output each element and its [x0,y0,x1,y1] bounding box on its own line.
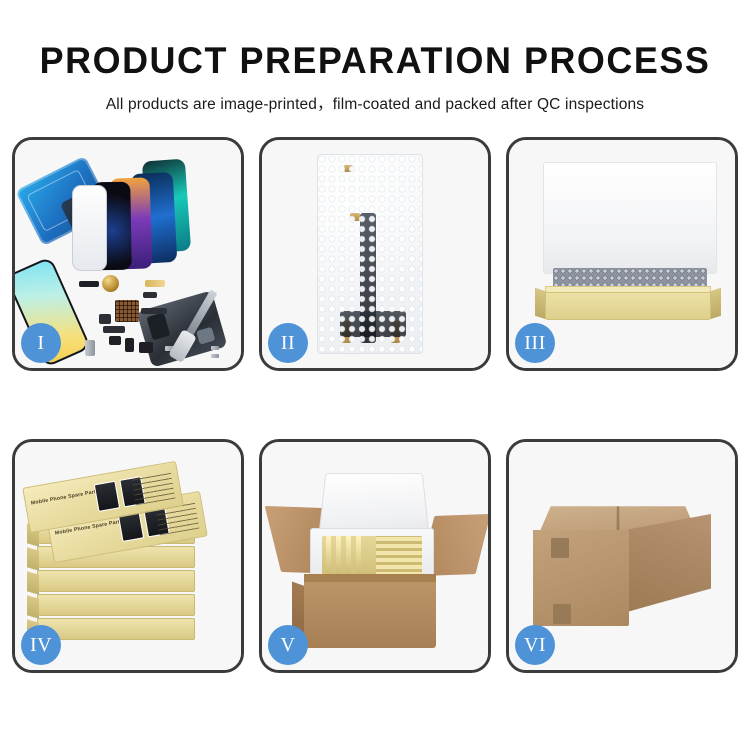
process-step-1: I [12,137,244,371]
carton-tape-icon-1 [551,538,569,558]
kraft-box-slab-icon-3 [37,570,195,592]
foam-lid-icon [543,162,717,274]
process-step-5: V [259,439,491,673]
receiver-icon [139,342,153,353]
flex-cable-icon-4 [141,308,167,314]
sealed-carton-side-icon [627,514,711,612]
process-step-2: II [259,137,491,371]
kraft-box-front-icon [545,292,711,320]
kraft-box-spec-lines-icon-1 [131,471,175,506]
process-step-4: Mobile Phone Spare Parts Mobile Phone Sp… [12,439,244,673]
step-5-badge: V [268,625,308,665]
flex-cable-icon-3 [99,314,111,324]
carton-tape-icon-2 [553,604,571,624]
step-4-badge: IV [21,625,61,665]
step-3-badge: III [515,323,555,363]
page-subtitle: All products are image-printed，film-coat… [0,92,750,114]
speaker-module-icon [102,275,119,292]
product-preparation-process-infographic: PRODUCT PREPARATION PROCESS All products… [0,0,750,750]
step-1-badge: I [21,323,61,363]
flex-cable-icon-1 [143,292,157,298]
header: PRODUCT PREPARATION PROCESS All products… [0,0,750,114]
vibrator-icon [125,338,134,352]
flex-cable-icon-2 [103,326,125,333]
kraft-box-slab-icon-2 [37,594,195,616]
page-title: PRODUCT PREPARATION PROCESS [11,42,739,81]
screw-icon-3 [211,354,219,358]
carton-body-icon [304,580,436,648]
step-6-badge: VI [515,625,555,665]
kraft-box-slab-icon-1 [37,618,195,640]
ic-chip-icon [115,300,139,322]
screw-icon-2 [211,346,219,350]
bubble-wrap-bag-icon [317,154,423,354]
process-step-grid: I II [12,137,738,673]
step-2-badge: II [268,323,308,363]
phone-white-icon [72,185,107,271]
battery-connector-icon [79,281,99,287]
sealed-carton-front-icon [533,530,629,626]
process-step-6: VI [506,439,738,673]
kraft-boxes-inside-icon [322,536,422,576]
sim-tray-icon [85,340,95,356]
process-step-3: III [506,137,738,371]
kraft-box-label-1: Mobile Phone Spare Parts [31,489,100,507]
camera-module-icon [109,336,121,345]
bubble-texture-icon [318,155,422,353]
gold-flex-icon [145,280,165,287]
kraft-box-window-icon-1 [94,481,121,512]
